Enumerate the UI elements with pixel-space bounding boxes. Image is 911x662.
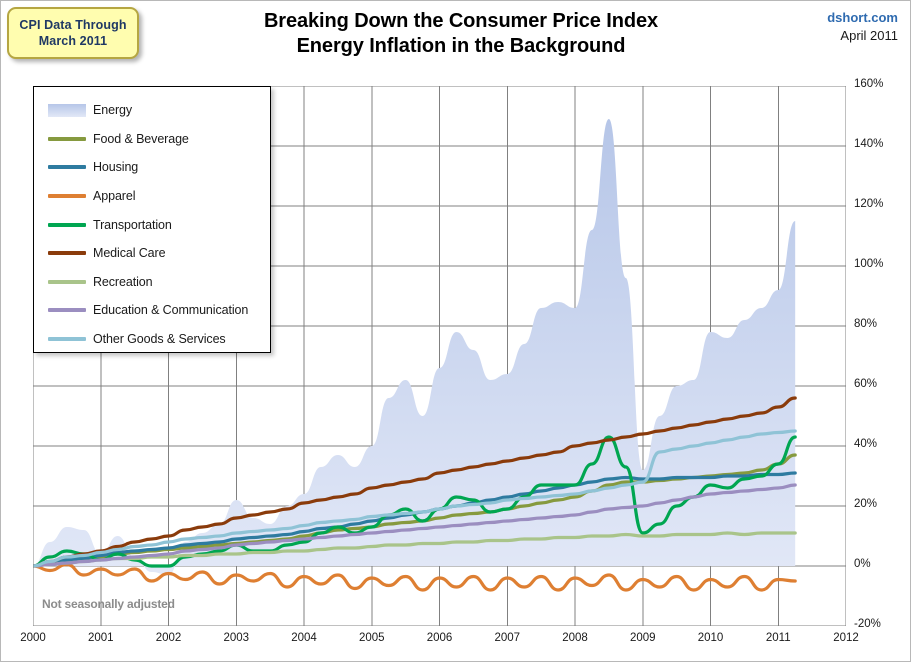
y-tick-label: 0%	[854, 558, 909, 570]
legend-item-label: Medical Care	[93, 246, 165, 260]
y-tick-label: 80%	[854, 318, 909, 330]
y-tick-label: 60%	[854, 378, 909, 390]
legend-item[interactable]: Food & Beverage	[34, 125, 270, 154]
legend-swatch-icon	[48, 137, 86, 141]
x-tick-label: 2004	[274, 632, 334, 644]
legend-item-label: Apparel	[93, 189, 135, 203]
page-title: Breaking Down the Consumer Price Index E…	[211, 9, 711, 59]
legend-item-label: Other Goods & Services	[93, 332, 226, 346]
legend-swatch-icon	[48, 194, 86, 198]
attribution: dshort.com April 2011	[827, 9, 898, 45]
x-tick-label: 2002	[139, 632, 199, 644]
y-tick-label: 20%	[854, 498, 909, 510]
y-tick-label: 140%	[854, 138, 909, 150]
x-tick-label: 2005	[342, 632, 402, 644]
cpi-data-callout: CPI Data Through March 2011	[7, 7, 139, 59]
y-tick-label: 100%	[854, 258, 909, 270]
x-tick-label: 2008	[545, 632, 605, 644]
legend-item-label: Education & Communication	[93, 303, 248, 317]
y-tick-label: 160%	[854, 78, 909, 90]
legend-item[interactable]: Apparel	[34, 182, 270, 211]
source-date-label: April 2011	[827, 27, 898, 45]
y-tick-label: 40%	[854, 438, 909, 450]
source-site-label: dshort.com	[827, 9, 898, 27]
x-tick-label: 2010	[681, 632, 741, 644]
chart-legend: EnergyFood & BeverageHousingApparelTrans…	[33, 86, 271, 353]
chart-footnote: Not seasonally adjusted	[42, 597, 175, 611]
callout-line-1: CPI Data Through	[19, 17, 126, 33]
y-tick-label: -20%	[854, 618, 909, 630]
legend-swatch-icon	[48, 165, 86, 169]
title-line-1: Breaking Down the Consumer Price Index	[211, 9, 711, 34]
legend-item[interactable]: Housing	[34, 153, 270, 182]
chart-root: CPI Data Through March 2011 Breaking Dow…	[0, 0, 911, 662]
legend-swatch-icon	[48, 251, 86, 255]
legend-swatch-icon	[48, 104, 86, 117]
legend-item[interactable]: Other Goods & Services	[34, 325, 270, 354]
legend-swatch-icon	[48, 280, 86, 284]
x-tick-label: 2003	[206, 632, 266, 644]
legend-item-label: Energy	[93, 103, 132, 117]
x-tick-label: 2009	[613, 632, 673, 644]
legend-swatch-icon	[48, 308, 86, 312]
legend-item[interactable]: Recreation	[34, 268, 270, 297]
callout-line-2: March 2011	[39, 33, 107, 49]
x-tick-label: 2000	[3, 632, 63, 644]
x-tick-label: 2012	[816, 632, 876, 644]
x-tick-label: 2001	[71, 632, 131, 644]
x-tick-label: 2006	[410, 632, 470, 644]
x-tick-label: 2007	[477, 632, 537, 644]
legend-item-label: Food & Beverage	[93, 132, 189, 146]
title-line-2: Energy Inflation in the Background	[211, 34, 711, 59]
legend-swatch-icon	[48, 223, 86, 227]
legend-swatch-icon	[48, 337, 86, 341]
legend-item[interactable]: Education & Communication	[34, 296, 270, 325]
legend-item-label: Housing	[93, 160, 138, 174]
legend-item[interactable]: Transportation	[34, 210, 270, 239]
y-tick-label: 120%	[854, 198, 909, 210]
legend-item[interactable]: Energy	[34, 96, 270, 125]
legend-item-label: Recreation	[93, 275, 152, 289]
legend-item-label: Transportation	[93, 218, 172, 232]
x-tick-label: 2011	[748, 632, 808, 644]
legend-item[interactable]: Medical Care	[34, 239, 270, 268]
